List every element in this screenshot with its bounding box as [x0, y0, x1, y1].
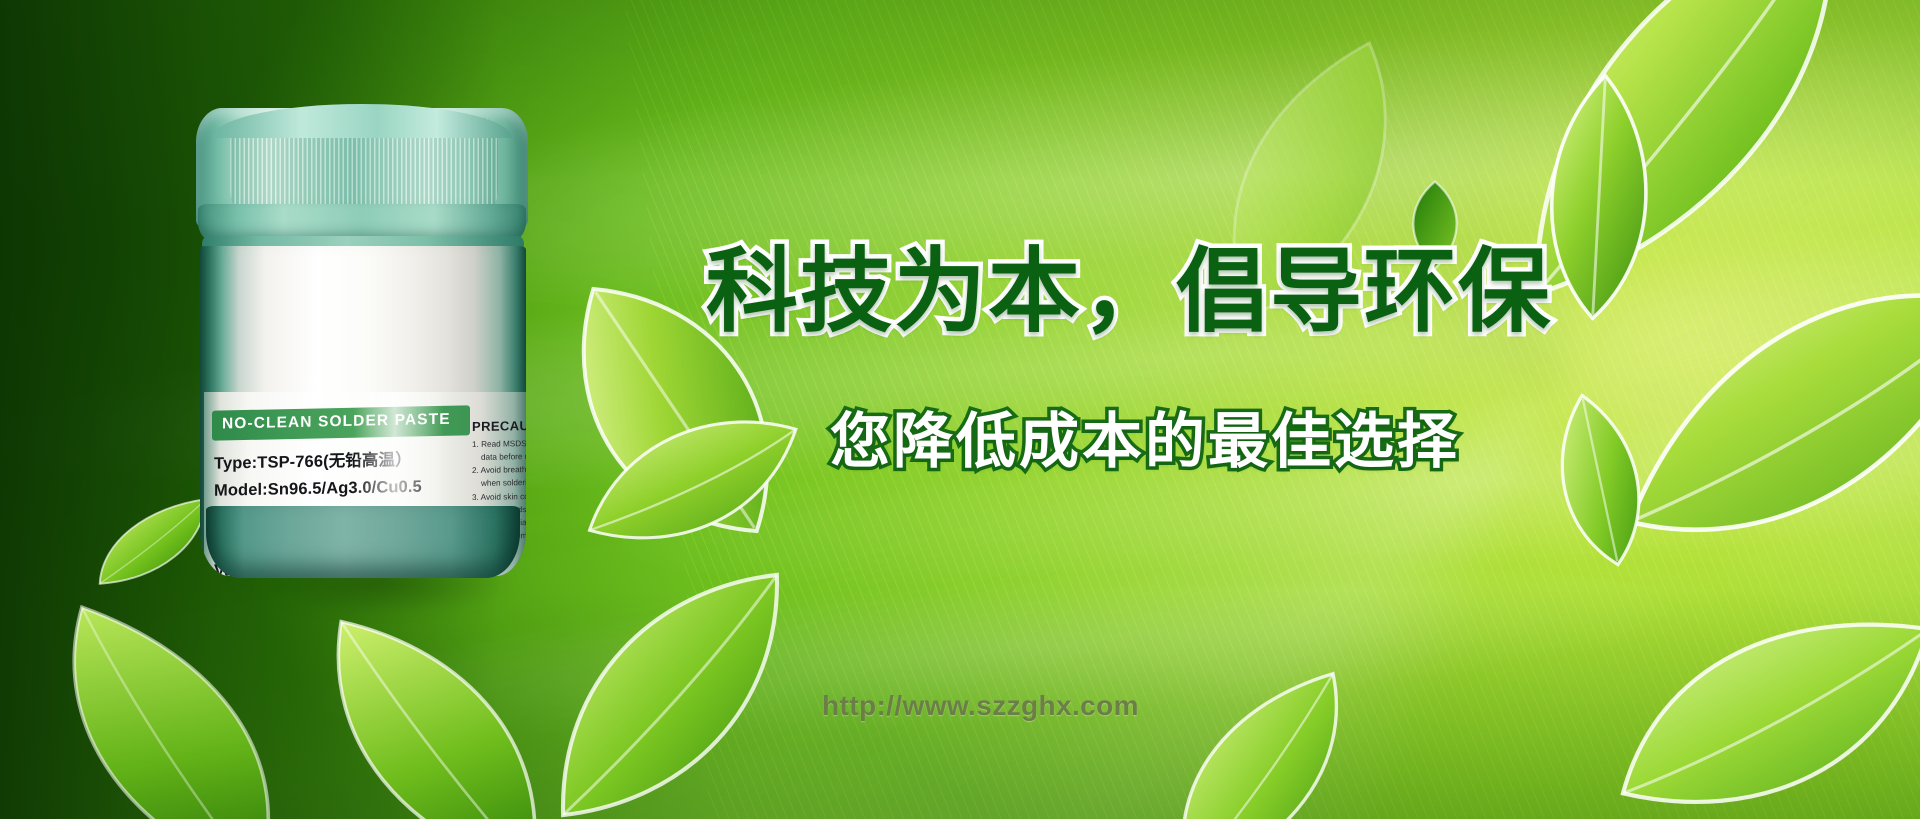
label-title-banner: NO-CLEAN SOLDER PASTE — [212, 405, 470, 440]
jar-lid-top-edge — [212, 104, 512, 138]
jar-base — [206, 506, 520, 578]
precaution-item: 3. Avoid skin contact. — [472, 490, 526, 504]
jar-lid — [196, 108, 528, 230]
banner-subheadline: 您降低成本的最佳选择 — [830, 412, 1460, 472]
precaution-item: when soldering. — [472, 476, 526, 490]
website-url[interactable]: http://www.szzghx.com — [822, 690, 1139, 722]
precaution-item: data before use. — [472, 450, 526, 464]
precaution-item: 1. Read MSDS and — [472, 437, 526, 451]
product-image-solder-paste-jar: NO-CLEAN SOLDER PASTE Type:TSP-766(无铅高温）… — [196, 108, 572, 600]
precaution-item: 2. Avoid breathing — [472, 463, 526, 477]
promo-banner: NO-CLEAN SOLDER PASTE Type:TSP-766(无铅高温）… — [0, 0, 1920, 819]
banner-headline: 科技为本，倡导环保 — [706, 246, 1552, 338]
precaution-title: PRECAUTION — [472, 417, 526, 434]
label-title-text: NO-CLEAN SOLDER PASTE — [222, 411, 451, 434]
